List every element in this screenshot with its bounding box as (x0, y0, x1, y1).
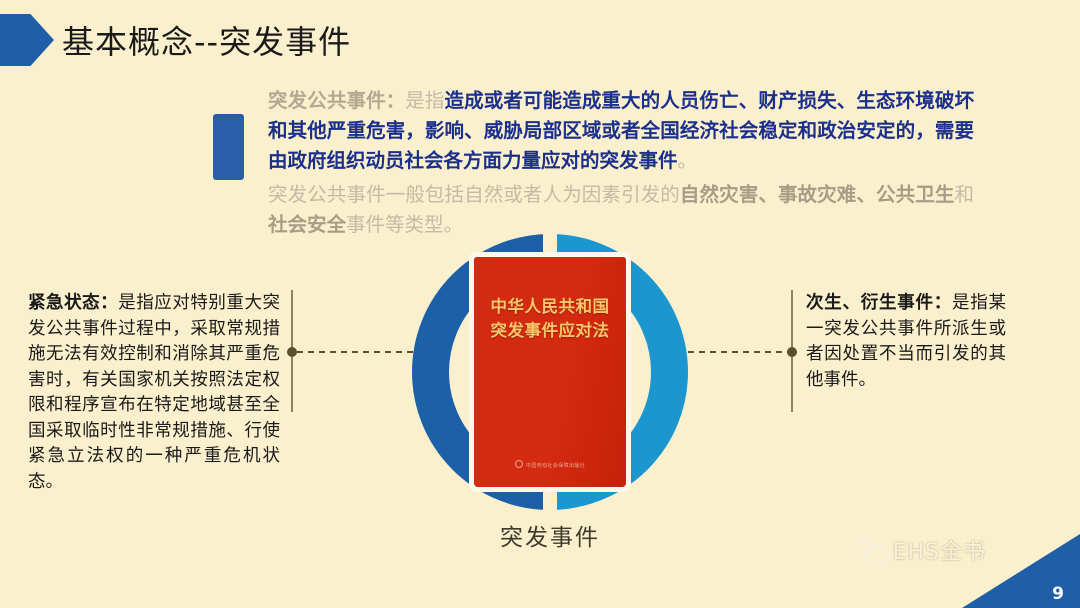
definition-main-text: 突发公共事件：是指造成或者可能造成重大的人员伤亡、财产损失、生态环境破坏和其他严… (268, 86, 974, 176)
center-ring-diagram: 中华人民共和国 突发事件应对法 中国劳动社会保障出版社 (412, 234, 688, 510)
book-title-line1: 中华人民共和国 (474, 295, 626, 319)
definition-sub-mid: 和 (954, 183, 974, 206)
definition-sub-part1: 突发公共事件一般包括自然或者人为因素引发的 (268, 183, 680, 206)
watermark: EHS全书 (852, 534, 986, 566)
wechat-bubble-front (864, 544, 889, 565)
right-concept-heading: 次生、衍生事件： (806, 293, 952, 313)
center-diagram-caption: 突发事件 (412, 518, 688, 552)
wechat-dot-3 (870, 549, 873, 552)
wechat-icon (852, 537, 886, 563)
law-book-cover: 中华人民共和国 突发事件应对法 中国劳动社会保障出版社 (474, 257, 626, 487)
page-number: 9 (1052, 584, 1064, 604)
page-title: 基本概念--突发事件 (62, 17, 351, 63)
left-connector-dashed-line (297, 351, 419, 353)
left-concept-heading: 紧急状态： (28, 293, 118, 313)
book-title: 中华人民共和国 突发事件应对法 (474, 295, 626, 343)
definition-sub-part2: 事件等类型。 (346, 213, 463, 236)
definition-sub-bold2: 社会安全 (268, 213, 346, 236)
wechat-dot-1 (857, 541, 860, 544)
slide-canvas: 基本概念--突发事件 突发公共事件：是指造成或者可能造成重大的人员伤亡、财产损失… (0, 0, 1080, 608)
wechat-dot-4 (878, 549, 881, 552)
wechat-dot-2 (864, 541, 867, 544)
title-arrow-icon (0, 14, 54, 66)
definition-sub-bold1: 自然灾害、事故灾难、公共卫生 (680, 183, 955, 206)
definition-lead: 是指 (405, 89, 444, 112)
definition-block: 突发公共事件：是指造成或者可能造成重大的人员伤亡、财产损失、生态环境破坏和其他严… (268, 86, 974, 240)
publisher-name: 中国劳动社会保障出版社 (526, 463, 585, 469)
watermark-label: EHS全书 (893, 534, 986, 566)
right-connector-dot (787, 347, 797, 357)
left-concept-body: 是指应对特别重大突发公共事件过程中，采取常规措施无法有效控制和消除其严重危害时，… (28, 293, 280, 492)
right-concept-block: 次生、衍生事件：是指某一突发公共事件所派生或者因处置不当而引发的其他事件。 (806, 291, 1006, 393)
definition-sub-text: 突发公共事件一般包括自然或者人为因素引发的自然灾害、事故灾难、公共卫生和社会安全… (268, 180, 974, 240)
definition-label: 突发公共事件： (268, 89, 405, 112)
left-concept-block: 紧急状态：是指应对特别重大突发公共事件过程中，采取常规措施无法有效控制和消除其严… (28, 291, 280, 495)
left-connector-dot (287, 347, 297, 357)
blue-marker-accent (213, 114, 244, 180)
definition-body-end: 。 (678, 149, 698, 172)
book-publisher: 中国劳动社会保障出版社 (474, 460, 626, 469)
publisher-logo-icon (515, 460, 523, 468)
book-title-line2: 突发事件应对法 (474, 319, 626, 343)
